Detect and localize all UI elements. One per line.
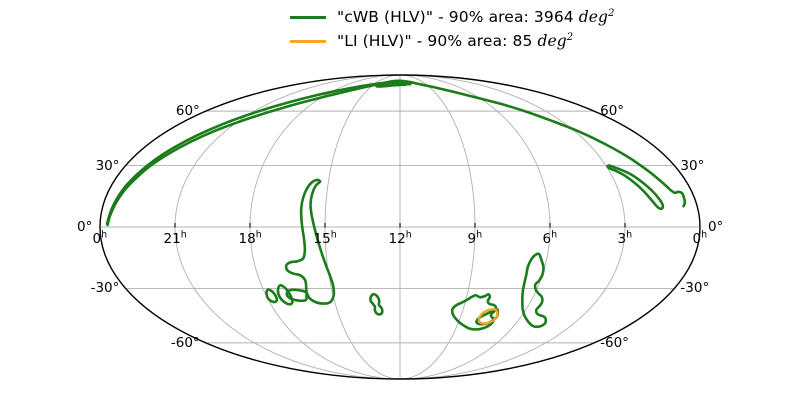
- contour-cwb-small-blob-c: [370, 294, 382, 314]
- ra-label-9h-3: 9h: [468, 231, 483, 247]
- ra-label-6h-2: 6h: [543, 231, 558, 247]
- ra-label-15h-5: 15h: [314, 231, 337, 247]
- legend-entry-cwb[interactable]: "cWB (HLV)" - 90% area: 3964 deg2: [290, 8, 710, 26]
- dec-label-right-60: 60°: [600, 103, 624, 119]
- dec-label-right--60: -60°: [600, 335, 629, 351]
- dec-label-right--30: -30°: [680, 280, 709, 296]
- contour-cwb-east-loop-30: [608, 166, 663, 209]
- legend-swatch-li: [290, 40, 326, 43]
- legend-unit-li: deg: [537, 32, 566, 50]
- contour-cwb-north-arc-inner: [107, 83, 410, 224]
- legend-swatch-cwb: [290, 16, 326, 19]
- ra-label-18h-6: 18h: [239, 231, 262, 247]
- ra-label-0h-8: 0h: [93, 231, 108, 247]
- ra-label-0h-0: 0h: [692, 231, 707, 247]
- skymap-canvas: [0, 0, 800, 400]
- skymap-figure: "cWB (HLV)" - 90% area: 3964 deg2 "LI (H…: [0, 0, 800, 400]
- dec-label-right-30: 30°: [680, 158, 704, 174]
- legend-label-li: "LI (HLV)" - 90% area: 85 deg2: [337, 32, 573, 50]
- ra-label-3h-1: 3h: [618, 231, 633, 247]
- ra-label-12h-4: 12h: [389, 231, 412, 247]
- legend-unit-cwb: deg: [579, 8, 608, 26]
- legend-label-cwb: "cWB (HLV)" - 90% area: 3964 deg2: [337, 8, 615, 26]
- dec-label-left-60: 60°: [176, 103, 200, 119]
- legend-entry-li[interactable]: "LI (HLV)" - 90% area: 85 deg2: [290, 32, 710, 50]
- legend-exponent-cwb: 2: [608, 8, 614, 19]
- ra-label-21h-7: 21h: [164, 231, 187, 247]
- dec-label-left--60: -60°: [171, 335, 200, 351]
- dec-label-left-30: 30°: [96, 158, 120, 174]
- contour-cwb-south-east-hook: [522, 254, 545, 327]
- contour-cwb-small-blob-a: [267, 290, 277, 302]
- legend-label-cwb-text: "cWB (HLV)" - 90% area: 3964: [337, 8, 579, 26]
- dec-label-left-0: 0°: [77, 219, 92, 235]
- dec-label-left--30: -30°: [91, 280, 120, 296]
- dec-label-right-0: 0°: [708, 219, 723, 235]
- legend: "cWB (HLV)" - 90% area: 3964 deg2 "LI (H…: [290, 8, 710, 50]
- legend-exponent-li: 2: [567, 32, 573, 43]
- legend-label-li-text: "LI (HLV)" - 90% area: 85: [337, 32, 537, 50]
